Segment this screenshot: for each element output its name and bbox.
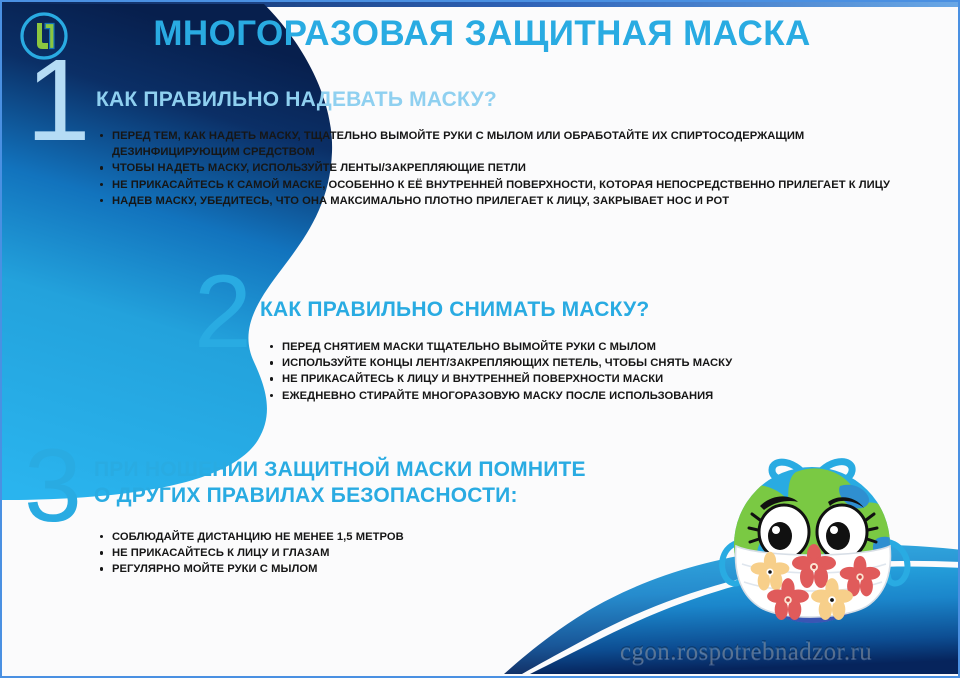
section-heading-2: КАК ПРАВИЛЬНО СНИМАТЬ МАСКУ? (260, 297, 649, 323)
infographic-poster: МНОГОРАЗОВАЯ ЗАЩИТНАЯ МАСКА 1 КАК ПРАВИЛ… (0, 0, 960, 678)
section-bullets-2: ПЕРЕД СНЯТИЕМ МАСКИ ТЩАТЕЛЬНО ВЫМОЙТЕ РУ… (268, 339, 888, 404)
step-number-3: 3 (24, 434, 82, 538)
list-item: СОБЛЮДАЙТЕ ДИСТАНЦИЮ НЕ МЕНЕЕ 1,5 МЕТРОВ (98, 529, 658, 545)
section-heading-1: КАК ПРАВИЛЬНО НАДЕВАТЬ МАСКУ? (96, 87, 497, 113)
list-item: РЕГУЛЯРНО МОЙТЕ РУКИ С МЫЛОМ (98, 561, 658, 577)
step-number-2: 2 (194, 260, 252, 364)
section-heading-3: ПРИ НОШЕНИИ ЗАЩИТНОЙ МАСКИ ПОМНИТЕ О ДРУ… (94, 457, 586, 508)
page-title: МНОГОРАЗОВАЯ ЗАЩИТНАЯ МАСКА (2, 14, 960, 54)
section-bullets-1: ПЕРЕД ТЕМ, КАК НАДЕТЬ МАСКУ, ТЩАТЕЛЬНО В… (98, 128, 898, 209)
floral-face-mask (736, 544, 891, 620)
section-bullets-3: СОБЛЮДАЙТЕ ДИСТАНЦИЮ НЕ МЕНЕЕ 1,5 МЕТРОВ… (98, 529, 658, 578)
globe-mask-illustration (692, 442, 960, 644)
list-item: НЕ ПРИКАСАЙТЕСЬ К ЛИЦУ И ГЛАЗАМ (98, 545, 658, 561)
step-number-1: 1 (26, 42, 91, 158)
list-item: ПЕРЕД СНЯТИЕМ МАСКИ ТЩАТЕЛЬНО ВЫМОЙТЕ РУ… (268, 339, 888, 355)
footer-watermark: cgon.rospotrebnadzor.ru (620, 638, 872, 666)
list-item: ЧТОБЫ НАДЕТЬ МАСКУ, ИСПОЛЬЗУЙТЕ ЛЕНТЫ/ЗА… (98, 160, 898, 176)
list-item: НЕ ПРИКАСАЙТЕСЬ К САМОЙ МАСКЕ, ОСОБЕННО … (98, 177, 898, 193)
list-item: ИСПОЛЬЗУЙТЕ КОНЦЫ ЛЕНТ/ЗАКРЕПЛЯЮЩИХ ПЕТЕ… (268, 355, 888, 371)
list-item: НАДЕВ МАСКУ, УБЕДИТЕСЬ, ЧТО ОНА МАКСИМАЛ… (98, 193, 898, 209)
list-item: ПЕРЕД ТЕМ, КАК НАДЕТЬ МАСКУ, ТЩАТЕЛЬНО В… (98, 128, 898, 160)
list-item: НЕ ПРИКАСАЙТЕСЬ К ЛИЦУ И ВНУТРЕННЕЙ ПОВЕ… (268, 371, 888, 387)
list-item: ЕЖЕДНЕВНО СТИРАЙТЕ МНОГОРАЗОВУЮ МАСКУ ПО… (268, 388, 888, 404)
